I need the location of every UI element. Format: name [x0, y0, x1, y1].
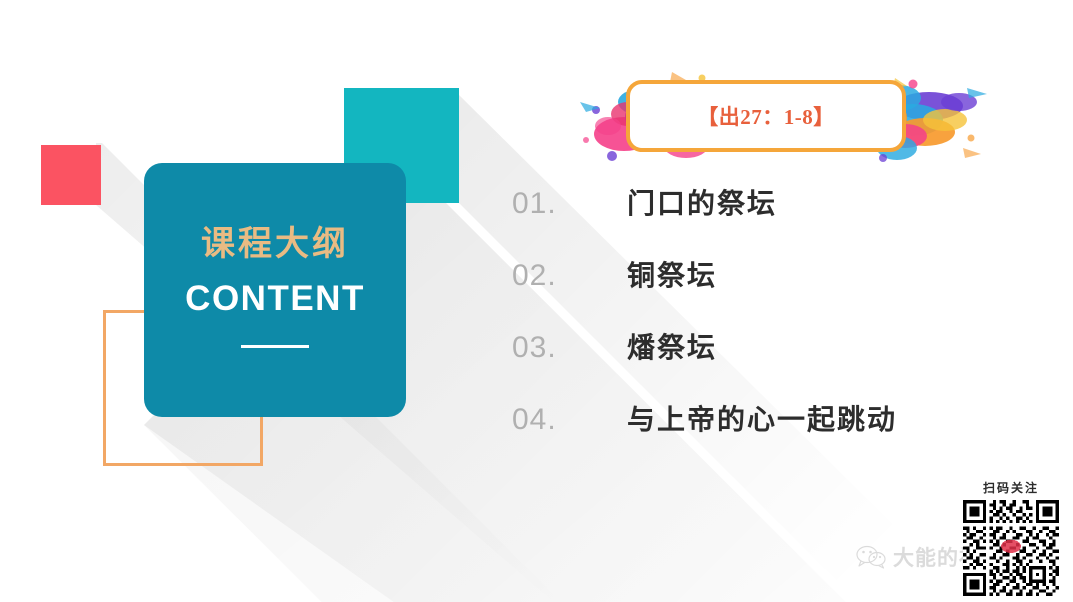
outline-item-2[interactable]: 02. 铜祭坛	[512, 254, 982, 326]
outline-list: 01. 门口的祭坛 02. 铜祭坛 03. 燔祭坛 04. 与上帝的心一起跳动	[512, 182, 982, 470]
outline-item-label: 门口的祭坛	[627, 182, 777, 222]
card-underline-rule	[241, 345, 309, 348]
content-title-card: 课程大纲 CONTENT	[144, 163, 406, 417]
card-title-chinese: 课程大纲	[201, 226, 349, 263]
qr-code-block: 扫码关注	[963, 479, 1059, 596]
slide-canvas: 课程大纲 CONTENT 【出27：1-8】	[0, 0, 1073, 602]
decor-red-square	[41, 145, 101, 205]
banner-box: 【出27：1-8】	[626, 80, 906, 152]
qr-caption: 扫码关注	[963, 479, 1059, 496]
outline-item-label: 燔祭坛	[627, 326, 717, 366]
outline-item-3[interactable]: 03. 燔祭坛	[512, 326, 982, 398]
qr-code-image[interactable]	[963, 500, 1059, 596]
wechat-icon	[856, 545, 886, 569]
card-title-english: CONTENT	[185, 279, 365, 319]
outline-item-number: 04.	[512, 403, 627, 437]
outline-item-label: 铜祭坛	[627, 254, 717, 294]
scripture-banner: 【出27：1-8】	[566, 62, 966, 170]
outline-item-1[interactable]: 01. 门口的祭坛	[512, 182, 982, 254]
outline-item-label: 与上帝的心一起跳动	[627, 398, 897, 438]
scripture-reference-text: 【出27：1-8】	[697, 101, 835, 131]
outline-item-4[interactable]: 04. 与上帝的心一起跳动	[512, 398, 982, 470]
outline-item-number: 01.	[512, 187, 627, 221]
outline-item-number: 02.	[512, 259, 627, 293]
outline-item-number: 03.	[512, 331, 627, 365]
